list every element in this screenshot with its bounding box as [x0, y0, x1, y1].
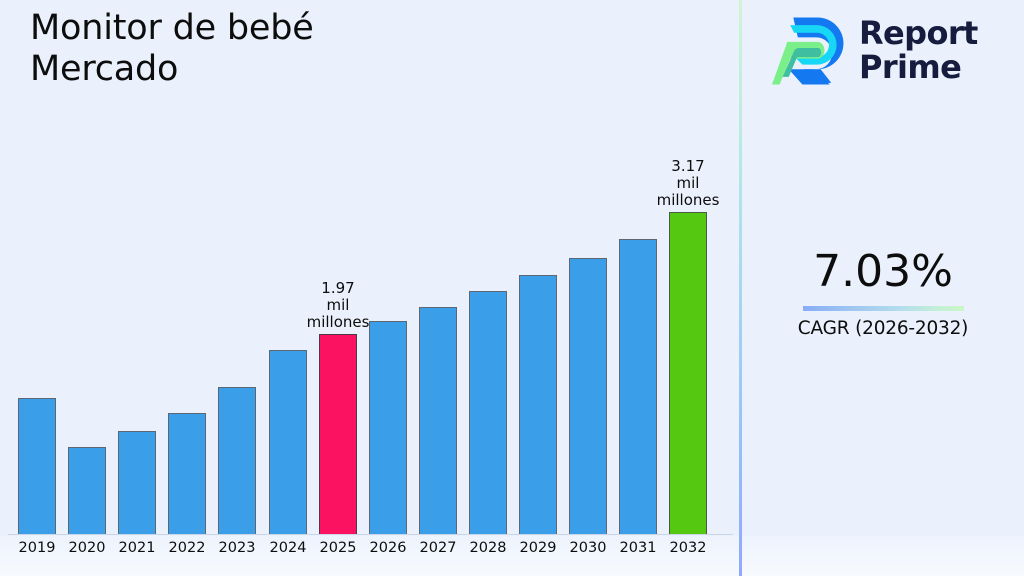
bar-value-label-2032: 3.17milmillones	[628, 158, 748, 208]
bar-2019	[18, 398, 56, 534]
bar-label-line: millones	[628, 192, 748, 209]
bar-label-line: 1.97	[278, 280, 398, 297]
x-tick-2019: 2019	[12, 540, 62, 556]
x-tick-2021: 2021	[112, 540, 162, 556]
page-title-line2: Mercado	[30, 49, 450, 90]
x-tick-2022: 2022	[162, 540, 212, 556]
x-tick-2032: 2032	[663, 540, 713, 556]
bar-2029	[519, 275, 557, 534]
bar-2028	[469, 291, 507, 534]
bar-label-line: mil	[628, 175, 748, 192]
bar-label-line: mil	[278, 297, 398, 314]
bar-2027	[419, 307, 457, 534]
brand-name-line2: Prime	[859, 51, 978, 85]
cagr-divider	[803, 306, 964, 311]
bar-2032	[669, 212, 707, 534]
bar-2022	[168, 413, 206, 534]
bar-2021	[118, 431, 156, 534]
bar-2030	[569, 258, 607, 534]
x-tick-2030: 2030	[563, 540, 613, 556]
brand-logo: Report Prime	[772, 10, 1006, 92]
x-tick-2029: 2029	[513, 540, 563, 556]
bar-value-label-2025: 1.97milmillones	[278, 280, 398, 330]
page-title: Monitor de bebé Mercado	[30, 8, 450, 90]
bar-2020	[68, 447, 106, 534]
bar-2025	[319, 334, 357, 534]
bar-label-line: millones	[278, 314, 398, 331]
bar-2026	[369, 321, 407, 534]
brand-name: Report Prime	[859, 17, 978, 85]
x-tick-2027: 2027	[413, 540, 463, 556]
x-tick-2020: 2020	[62, 540, 112, 556]
page-title-line1: Monitor de bebé	[30, 8, 314, 48]
x-axis-line	[8, 534, 733, 535]
x-tick-2031: 2031	[613, 540, 663, 556]
cagr-block: 7.03% CAGR (2026-2032)	[742, 250, 1024, 339]
x-tick-2026: 2026	[363, 540, 413, 556]
bar-2023	[218, 387, 256, 534]
bar-2031	[619, 239, 657, 534]
bar-chart: Monitor de bebé Mercado 2019202020212022…	[0, 0, 739, 576]
side-panel: Report Prime 7.03% CAGR (2026-2032)	[742, 0, 1024, 576]
brand-name-line1: Report	[859, 17, 978, 51]
report-prime-logo-icon	[772, 14, 848, 88]
x-tick-2024: 2024	[263, 540, 313, 556]
bar-label-line: 3.17	[628, 158, 748, 175]
slide-root: Monitor de bebé Mercado 2019202020212022…	[0, 0, 1024, 576]
cagr-value: 7.03%	[742, 250, 1024, 294]
x-tick-2025: 2025	[313, 540, 363, 556]
x-tick-2023: 2023	[212, 540, 262, 556]
cagr-caption: CAGR (2026-2032)	[742, 318, 1024, 339]
bar-2024	[269, 350, 307, 534]
x-tick-2028: 2028	[463, 540, 513, 556]
